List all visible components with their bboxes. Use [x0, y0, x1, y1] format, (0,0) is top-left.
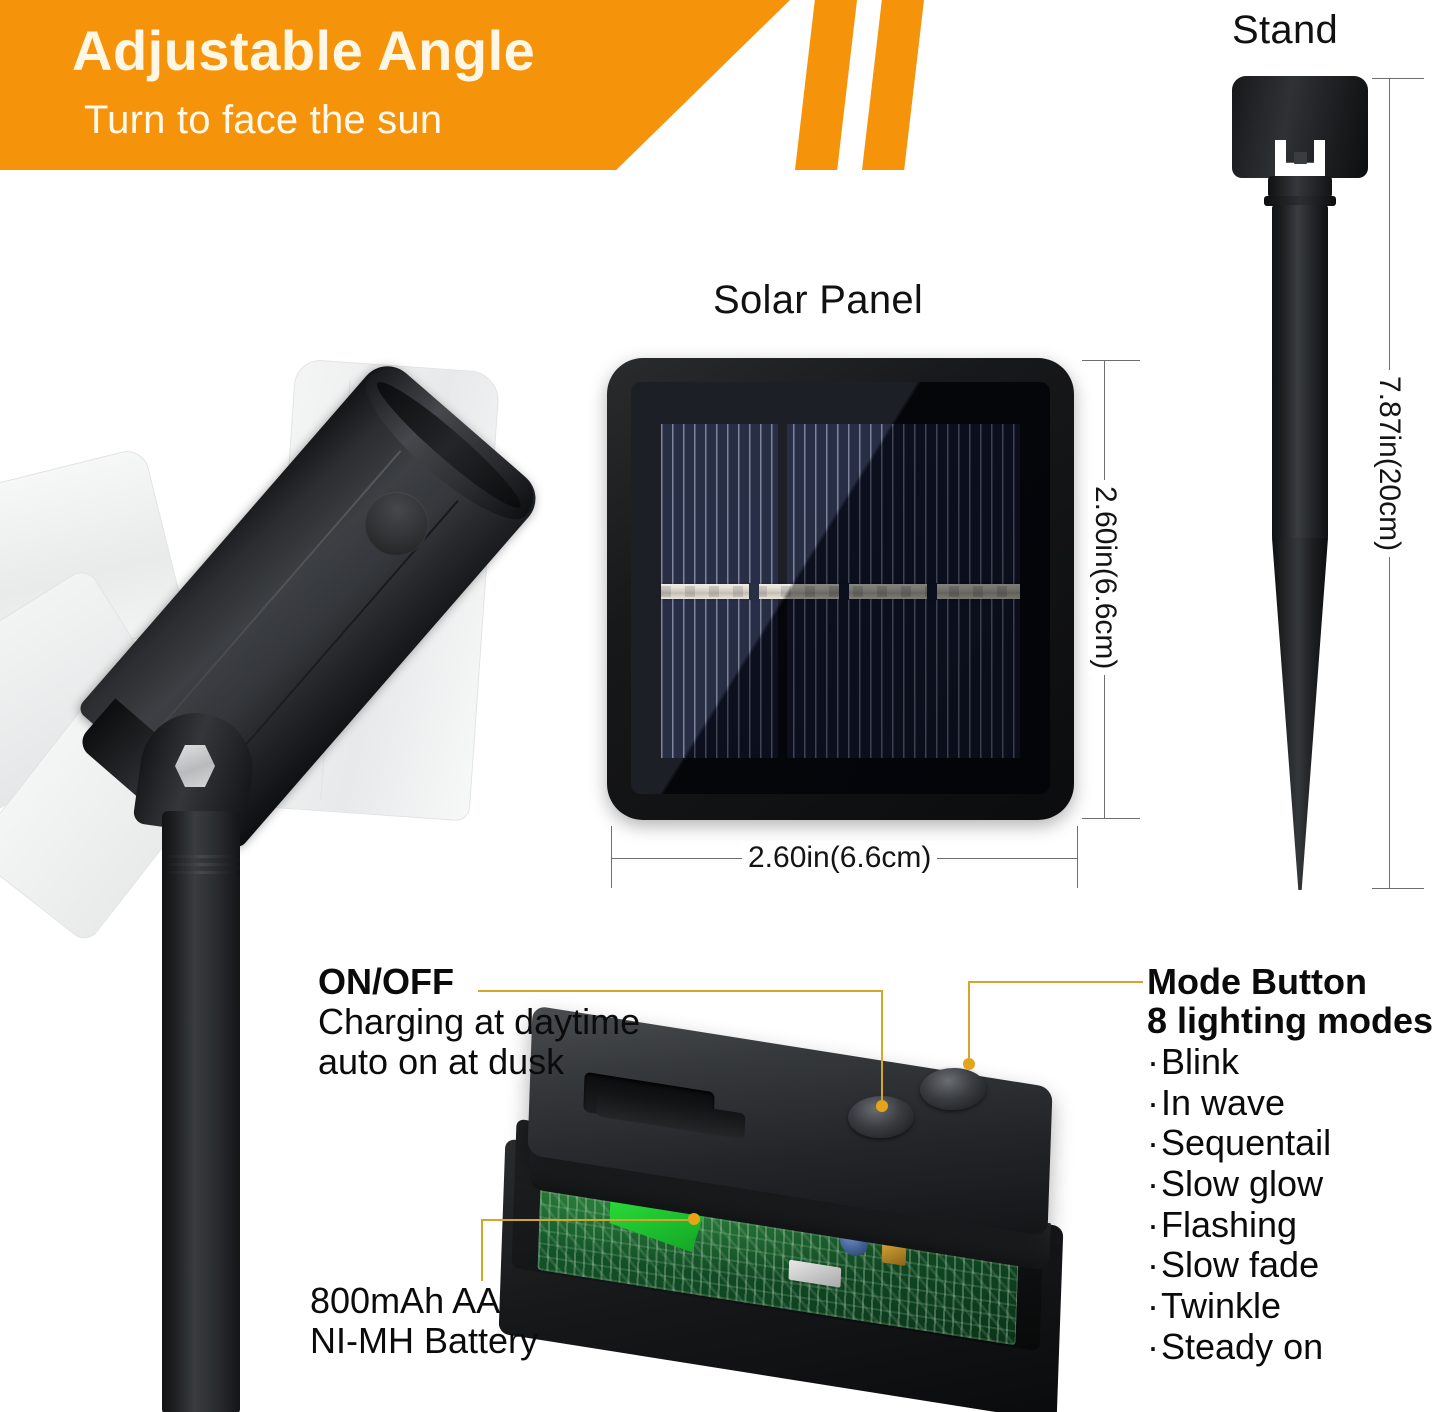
stand-head-connector — [1294, 152, 1307, 164]
middle-dot-bullet-icon: · — [1147, 1326, 1159, 1367]
stand-height-tick-bottom — [1372, 888, 1424, 889]
pole-ring — [162, 863, 240, 866]
battery-leader-horizontal — [481, 1219, 691, 1221]
pcb-component-connector — [788, 1260, 841, 1288]
stand-title: Stand — [1232, 8, 1338, 53]
busbar-gap — [839, 583, 849, 600]
lighting-mode-item: ·Sequentail — [1147, 1123, 1433, 1164]
adjustable-lamp-illustration — [0, 255, 510, 1412]
solar-panel-title: Solar Panel — [713, 278, 923, 323]
lamp-pole — [162, 811, 240, 1412]
lighting-mode-item: ·Steady on — [1147, 1327, 1433, 1368]
panel-width-label: 2.60in(6.6cm) — [742, 841, 937, 875]
onoff-leader-vertical — [881, 990, 883, 1106]
onoff-callout: ON/OFF Charging at daytime auto on at du… — [318, 963, 640, 1082]
header-banner: Adjustable Angle Turn to face the sun — [0, 0, 960, 170]
battery-line-2: NI-MH Battery — [310, 1321, 538, 1361]
panel-width-tick-right — [1077, 826, 1078, 888]
banner-stripe-2 — [862, 0, 924, 170]
lighting-mode-label: In wave — [1161, 1082, 1285, 1123]
middle-dot-bullet-icon: · — [1147, 1204, 1159, 1245]
lighting-mode-label: Flashing — [1161, 1204, 1297, 1245]
onoff-line-1: Charging at daytime — [318, 1002, 640, 1042]
banner-subtitle: Turn to face the sun — [84, 98, 442, 143]
middle-dot-bullet-icon: · — [1147, 1082, 1159, 1123]
middle-dot-bullet-icon: · — [1147, 1122, 1159, 1163]
mode-leader-horizontal — [968, 981, 1143, 983]
busbar-gap — [927, 583, 937, 600]
panel-height-tick-bottom — [1082, 818, 1140, 819]
stand-collar — [1268, 176, 1332, 198]
mode-leader-vertical — [968, 981, 970, 1065]
busbar-gap — [749, 583, 759, 600]
middle-dot-bullet-icon: · — [1147, 1244, 1159, 1285]
lighting-mode-item: ·In wave — [1147, 1083, 1433, 1124]
stand-shaft — [1272, 205, 1328, 540]
lighting-mode-label: Slow fade — [1161, 1244, 1319, 1285]
battery-callout: 800mAh AA NI-MH Battery — [310, 1281, 538, 1362]
lighting-mode-item: ·Slow glow — [1147, 1164, 1433, 1205]
battery-leader-vertical — [481, 1219, 483, 1281]
solar-panel — [607, 358, 1074, 820]
lighting-mode-label: Sequentail — [1161, 1122, 1331, 1163]
middle-dot-bullet-icon: · — [1147, 1041, 1159, 1082]
battery-line-1: 800mAh AA — [310, 1281, 538, 1321]
panel-height-label: 2.60in(6.6cm) — [1088, 480, 1122, 675]
panel-height-tick-top — [1082, 360, 1140, 361]
product-infographic: Adjustable Angle Turn to face the sun So… — [0, 0, 1445, 1412]
stand-ground-spike — [1272, 538, 1328, 890]
mode-button-callout: Mode Button 8 lighting modes ·Blink·In w… — [1147, 963, 1433, 1367]
solar-panel-glass — [631, 382, 1050, 794]
lighting-modes-list: ·Blink·In wave·Sequentail·Slow glow·Flas… — [1147, 1042, 1433, 1367]
mode-subheading: 8 lighting modes — [1147, 1002, 1433, 1041]
solar-cell-array — [661, 424, 1020, 758]
stand-height-tick-top — [1372, 78, 1424, 79]
mode-heading: Mode Button — [1147, 963, 1433, 1002]
stand-height-label: 7.87in(20cm) — [1372, 370, 1406, 557]
banner-title: Adjustable Angle — [72, 18, 535, 83]
lighting-mode-label: Twinkle — [1161, 1285, 1281, 1326]
lighting-mode-label: Steady on — [1161, 1326, 1323, 1367]
pole-ring — [162, 855, 240, 858]
middle-dot-bullet-icon: · — [1147, 1163, 1159, 1204]
lighting-mode-label: Blink — [1161, 1041, 1239, 1082]
lighting-mode-item: ·Slow fade — [1147, 1245, 1433, 1286]
lighting-mode-item: ·Blink — [1147, 1042, 1433, 1083]
lighting-mode-item: ·Flashing — [1147, 1205, 1433, 1246]
onoff-line-2: auto on at dusk — [318, 1042, 640, 1082]
lighting-mode-item: ·Twinkle — [1147, 1286, 1433, 1327]
panel-width-tick-left — [611, 826, 612, 888]
lighting-mode-label: Slow glow — [1161, 1163, 1323, 1204]
middle-dot-bullet-icon: · — [1147, 1285, 1159, 1326]
pole-ring — [162, 871, 240, 874]
banner-stripe-1 — [795, 0, 857, 170]
onoff-heading: ON/OFF — [318, 963, 640, 1002]
